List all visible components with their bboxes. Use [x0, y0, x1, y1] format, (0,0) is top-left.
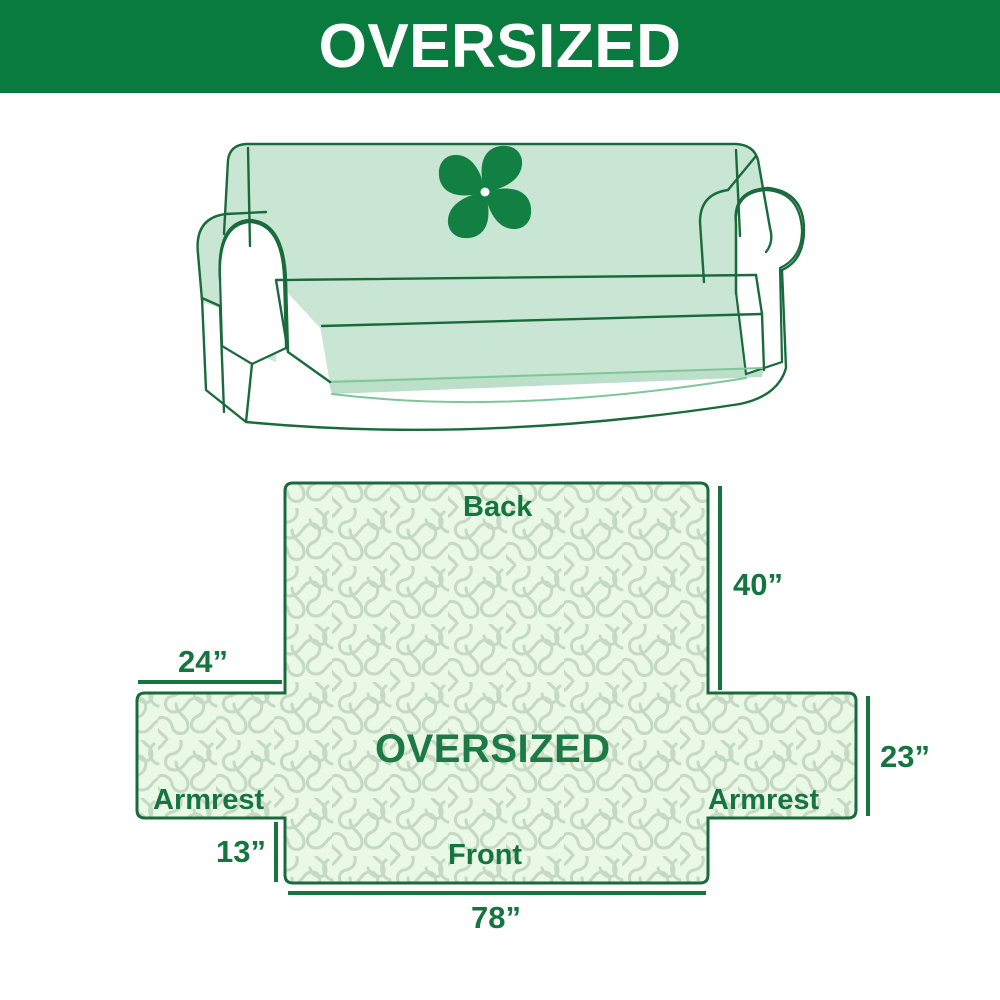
- header-band: OVERSIZED: [0, 0, 1000, 93]
- dimension-24-label: 24”: [178, 646, 228, 677]
- cover-layout-diagram: Back 40” 24” OVERSIZED 23” Armrest Armre…: [100, 450, 920, 950]
- dimension-23-label: 23”: [880, 741, 930, 772]
- dimension-13-label: 13”: [216, 836, 266, 867]
- label-front: Front: [448, 841, 522, 870]
- dimension-78-label: 78”: [471, 902, 521, 933]
- pinwheel-fan-icon: [439, 146, 531, 238]
- dimension-40-label: 40”: [733, 569, 783, 600]
- label-back: Back: [463, 493, 532, 522]
- pinwheel-center-dot: [481, 188, 490, 197]
- sofa-left-arm: [198, 214, 286, 412]
- page-title: OVERSIZED: [319, 16, 682, 78]
- sofa-slipcover-illustration: [180, 112, 820, 442]
- center-size-word: OVERSIZED: [375, 729, 611, 769]
- label-armrest-left: Armrest: [153, 786, 264, 815]
- label-armrest-right: Armrest: [708, 786, 819, 815]
